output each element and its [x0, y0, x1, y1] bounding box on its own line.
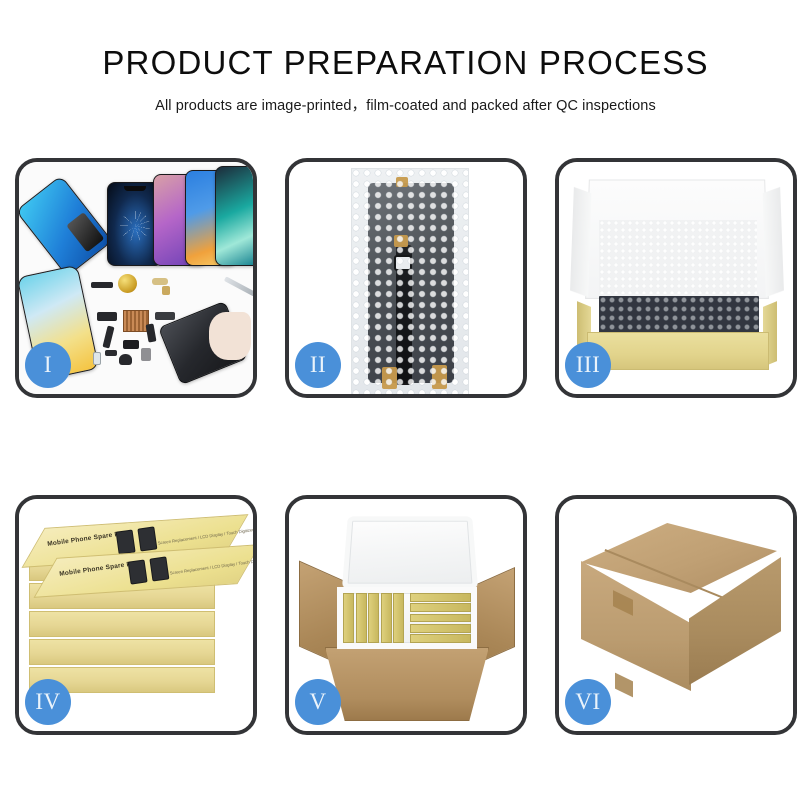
ribbon-cable-part	[102, 325, 114, 348]
infographic-page: PRODUCT PREPARATION PROCESS All products…	[0, 0, 811, 811]
foam-box-lid	[342, 516, 478, 588]
bubble-wrap-bag	[351, 168, 469, 394]
stacked-box	[29, 611, 215, 637]
phone-screen-blue	[19, 175, 113, 277]
gold-contact-top	[396, 177, 408, 187]
header: PRODUCT PREPARATION PROCESS All products…	[0, 0, 811, 115]
gold-connector-part	[152, 278, 168, 285]
foam-liner	[599, 220, 757, 294]
step-badge-4: IV	[25, 679, 71, 725]
step-badge-2: II	[295, 342, 341, 388]
carton-tape-lower	[615, 673, 633, 698]
tweezers-icon	[224, 276, 253, 296]
gold-bracket-part	[162, 286, 170, 295]
box-front-panel	[587, 332, 769, 370]
process-step-panel-1: I	[15, 158, 257, 398]
box-group-right	[410, 593, 471, 643]
process-step-panel-5: V	[285, 495, 527, 735]
connector-block	[394, 255, 412, 271]
gold-contact-left	[382, 367, 397, 389]
gold-contact-right	[432, 365, 447, 389]
packed-retail-boxes	[343, 593, 471, 643]
connector-part	[97, 312, 117, 321]
gold-contact-mid	[394, 235, 408, 247]
process-step-panel-6: VI	[555, 495, 797, 735]
process-step-panel-4: Mobile Phone Spare Parts Screen Replacem…	[15, 495, 257, 735]
small-bracket-part	[105, 350, 117, 356]
chip-module-part	[155, 312, 175, 320]
flex-cable-part	[91, 282, 113, 288]
step-badge-3: III	[565, 342, 611, 388]
page-subtitle: All products are image-printed，film-coat…	[0, 94, 811, 115]
carton-body	[325, 647, 489, 721]
camera-module-part	[119, 354, 132, 365]
step-badge-5: V	[295, 679, 341, 725]
step-badge-1: I	[25, 342, 71, 388]
speaker-module-icon	[118, 274, 137, 293]
bubble-wrap-contents	[599, 296, 759, 334]
sim-tray-part	[93, 352, 101, 365]
copper-chip-icon	[123, 310, 149, 332]
hand-shape	[209, 312, 251, 360]
box-group-left	[343, 593, 404, 643]
step-badge-6: VI	[565, 679, 611, 725]
process-step-panel-2: II	[285, 158, 527, 398]
phone-screen-teal	[215, 166, 253, 266]
process-step-panel-3: III	[555, 158, 797, 398]
page-title: PRODUCT PREPARATION PROCESS	[0, 44, 811, 82]
stacked-box	[29, 639, 215, 665]
process-step-grid: I II	[15, 158, 797, 736]
vibrator-part	[141, 348, 151, 361]
ribbon-cable-part-2	[145, 323, 156, 342]
battery-connector-part	[123, 340, 139, 349]
